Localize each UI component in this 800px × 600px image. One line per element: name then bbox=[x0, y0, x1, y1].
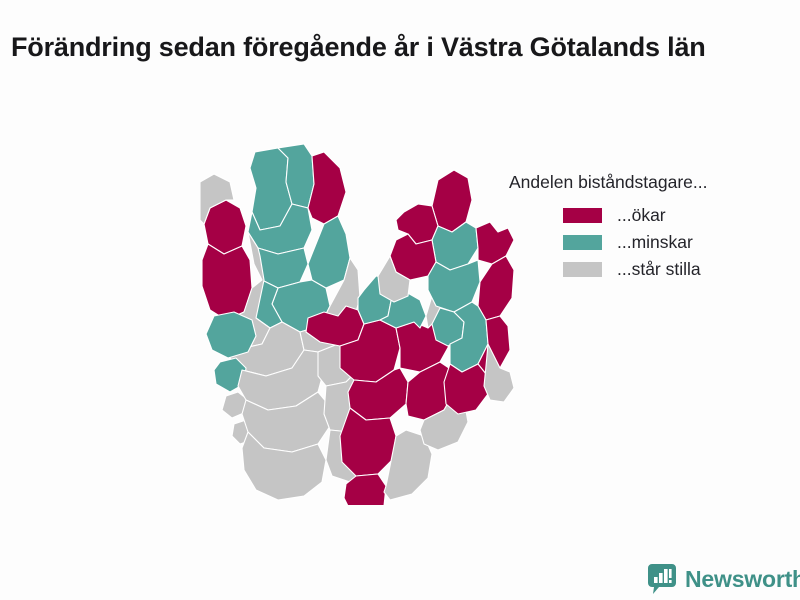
legend-label-unchanged: ...står stilla bbox=[617, 259, 701, 280]
legend-label-decreasing: ...minskar bbox=[617, 232, 693, 253]
legend-label-increasing: ...ökar bbox=[617, 205, 666, 226]
map-area bbox=[202, 244, 252, 320]
legend: Andelen biståndstagare... ...ökar ...min… bbox=[509, 172, 789, 283]
legend-item-decreasing[interactable]: ...minskar bbox=[509, 229, 789, 256]
legend-item-increasing[interactable]: ...ökar bbox=[509, 202, 789, 229]
choropleth-map bbox=[200, 130, 520, 505]
map-area bbox=[444, 364, 488, 414]
map-svg bbox=[200, 130, 520, 505]
map-area bbox=[206, 312, 256, 358]
newsworthy-bar-chart-bubble-icon bbox=[648, 564, 676, 594]
map-areas bbox=[200, 144, 514, 505]
legend-swatch-increasing bbox=[563, 208, 602, 223]
page-title: Förändring sedan föregående år i Västra … bbox=[11, 30, 711, 65]
map-area bbox=[308, 152, 346, 224]
legend-title: Andelen biståndstagare... bbox=[509, 172, 789, 194]
legend-swatch-decreasing bbox=[563, 235, 602, 250]
legend-item-unchanged[interactable]: ...står stilla bbox=[509, 256, 789, 283]
legend-swatch-unchanged bbox=[563, 262, 602, 277]
brand-name: Newsworthy bbox=[685, 566, 800, 593]
newsworthy-logo[interactable]: Newsworthy bbox=[648, 564, 800, 594]
map-area bbox=[308, 216, 350, 288]
